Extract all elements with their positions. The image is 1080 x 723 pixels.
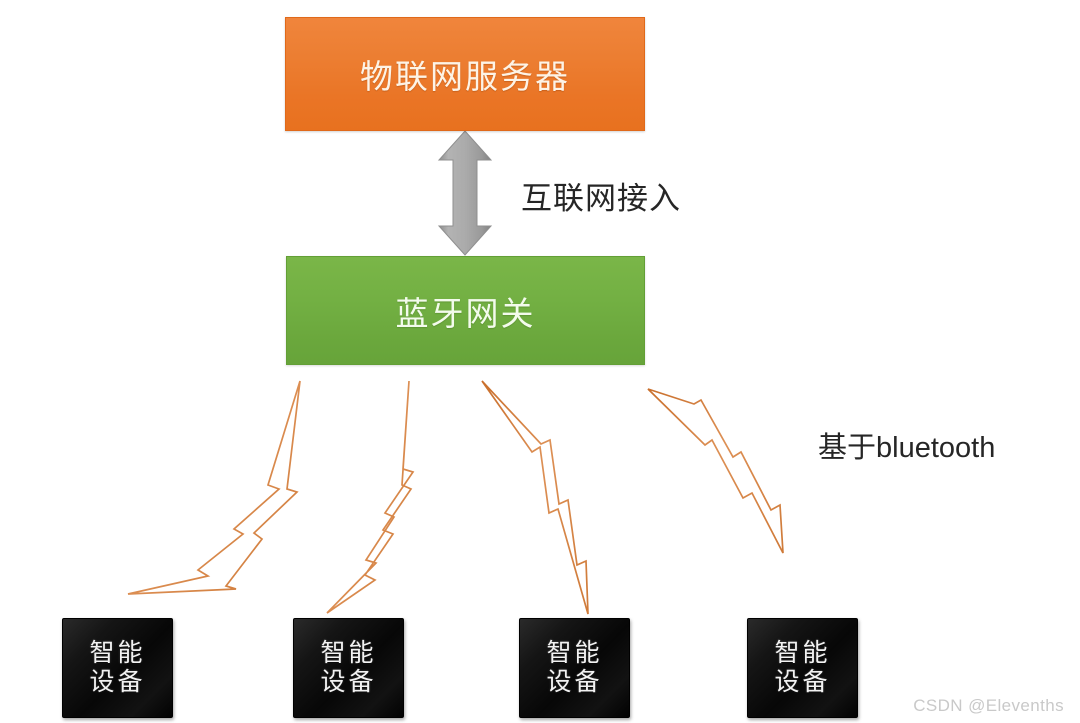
iot-server-label: 物联网服务器 [360, 50, 570, 98]
bluetooth-bolt-1-icon [128, 381, 300, 594]
smart-device-node-2[interactable]: 智能 设备 [293, 618, 404, 718]
iot-server-node[interactable]: 物联网服务器 [285, 17, 645, 131]
smart-device-label-line1: 智能 [546, 639, 602, 668]
diagram-canvas: 物联网服务器 互联网接入 蓝牙网关 基于bluetooth 智能 设备 智能 设… [0, 0, 1080, 723]
bluetooth-bolt-3-icon [482, 381, 588, 614]
smart-device-label-line1: 智能 [89, 639, 145, 668]
smart-device-label-line2: 设备 [774, 668, 830, 697]
bluetooth-bolt-4-icon [648, 389, 783, 553]
smart-device-label-line2: 设备 [320, 668, 376, 697]
smart-device-node-1[interactable]: 智能 设备 [62, 618, 173, 718]
smart-device-label-line1: 智能 [774, 639, 830, 668]
bluetooth-bolt-2-icon [327, 381, 413, 613]
bluetooth-basis-label: 基于bluetooth [818, 424, 995, 466]
csdn-watermark: CSDN @Elevenths [913, 696, 1064, 716]
bluetooth-gateway-label: 蓝牙网关 [396, 287, 536, 335]
smart-device-label-line1: 智能 [320, 639, 376, 668]
smart-device-node-3[interactable]: 智能 设备 [519, 618, 630, 718]
internet-access-label: 互联网接入 [521, 173, 681, 218]
smart-device-label-line2: 设备 [89, 668, 145, 697]
bluetooth-gateway-node[interactable]: 蓝牙网关 [286, 256, 645, 365]
internet-double-arrow-icon [439, 131, 491, 255]
smart-device-label-line2: 设备 [546, 668, 602, 697]
smart-device-node-4[interactable]: 智能 设备 [747, 618, 858, 718]
